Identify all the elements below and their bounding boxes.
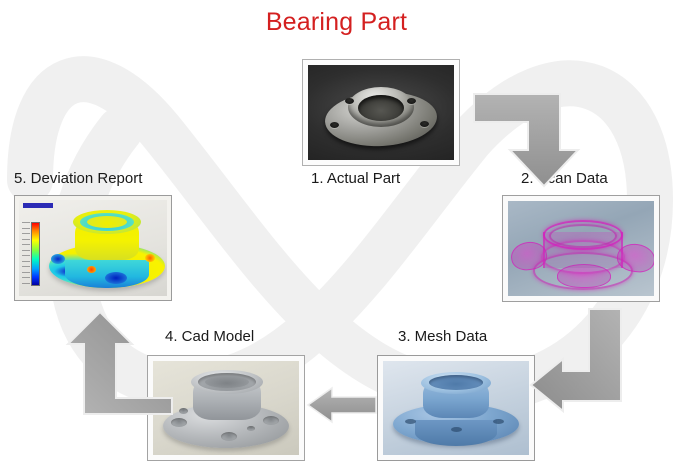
- cad-bolt-hole: [221, 432, 237, 441]
- cad-bolt-hole: [171, 418, 187, 427]
- panel-mesh-data[interactable]: [378, 356, 534, 460]
- part-bolt-hole: [407, 98, 416, 104]
- step-label-cad-model: 4. Cad Model: [165, 328, 254, 345]
- cad-bolt-hole: [247, 426, 255, 431]
- colorbar-ticks: [22, 222, 30, 284]
- mesh-rim-inner: [429, 375, 483, 390]
- arrow-scan-to-mesh-icon: [527, 305, 637, 413]
- deviation-hotspot-low: [105, 272, 127, 284]
- cad-group: [163, 374, 289, 450]
- part-bolt-hole: [330, 122, 339, 128]
- part-bolt-hole: [420, 121, 429, 127]
- deviation-rim-inner: [87, 216, 127, 228]
- part-bore-inner: [358, 95, 404, 121]
- deviation-hotspot-low: [51, 254, 65, 264]
- reverse-engineering-workflow-diagram: Bearing Part 1. Actual Part: [0, 0, 673, 473]
- panel-scan-data[interactable]: [503, 196, 659, 301]
- panel-deviation-report[interactable]: [15, 196, 171, 300]
- scan-point-cloud: [508, 201, 654, 296]
- cad-bolt-hole: [179, 408, 188, 414]
- panel-cad-model[interactable]: [148, 356, 304, 460]
- panel-actual-part[interactable]: [303, 60, 459, 165]
- deviation-model: [47, 210, 167, 294]
- mesh-bolt-hole: [451, 427, 462, 432]
- deviation-hotspot-high: [87, 266, 96, 273]
- cad-bolt-hole: [263, 416, 279, 425]
- cad-model: [153, 361, 299, 455]
- deviation-colorbar: [31, 222, 40, 286]
- mesh-bolt-hole: [493, 419, 504, 424]
- part-bolt-hole: [345, 98, 354, 104]
- cad-rim-inner: [205, 376, 249, 388]
- deviation-viewport: [19, 200, 167, 296]
- step-label-deviation-report: 5. Deviation Report: [14, 170, 142, 187]
- page-title: Bearing Part: [0, 8, 673, 37]
- step-label-actual-part: 1. Actual Part: [311, 170, 400, 187]
- step-label-mesh-data: 3. Mesh Data: [398, 328, 487, 345]
- scan-cloud-group: [517, 218, 645, 288]
- actual-part-photo: [308, 65, 454, 160]
- mesh-model: [383, 361, 529, 455]
- arrow-mesh-to-cad-icon: [306, 385, 378, 425]
- step-label-scan-data: 2. Scan Data: [521, 170, 608, 187]
- deviation-hotspot-high: [145, 254, 155, 262]
- viewport-title-bar: [23, 203, 53, 208]
- mesh-skirt: [415, 420, 497, 446]
- mesh-group: [393, 374, 519, 446]
- mesh-bolt-hole: [405, 419, 416, 424]
